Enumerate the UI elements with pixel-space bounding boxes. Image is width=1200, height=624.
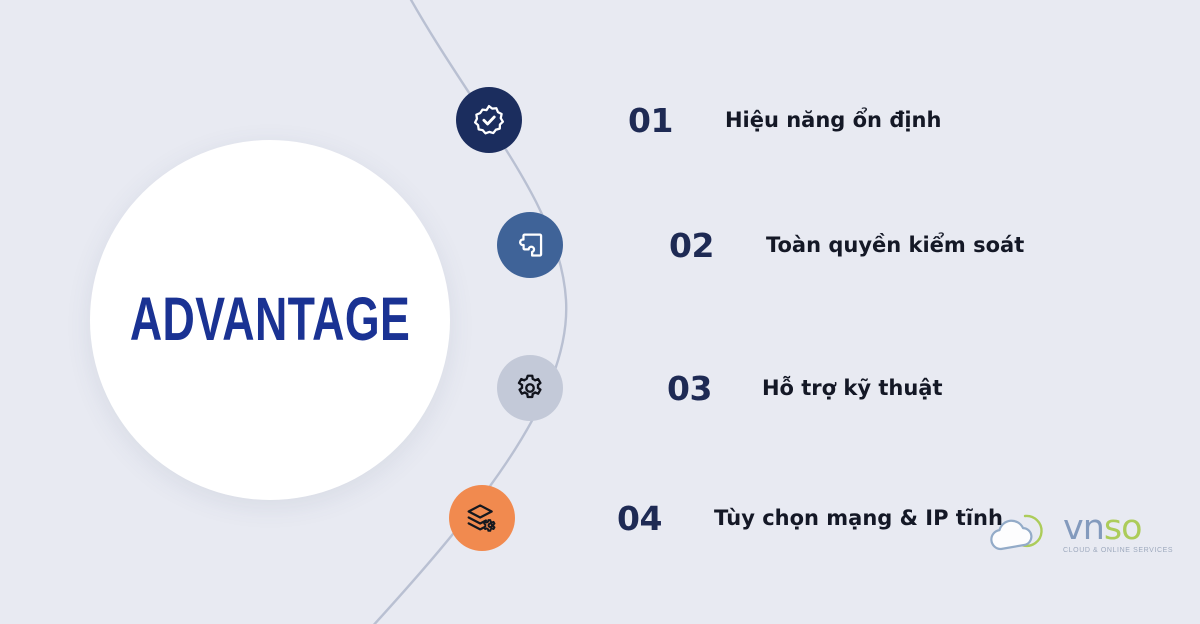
advantage-icon-circle-4[interactable] <box>449 485 515 551</box>
gear-icon <box>514 372 546 404</box>
advantage-label-2: Toàn quyền kiểm soát <box>766 233 1024 257</box>
vnso-logo: vnso CLOUD & ONLINE SERVICES <box>985 500 1175 566</box>
advantage-item-1[interactable]: 01 Hiệu năng ổn định <box>456 87 941 153</box>
advantage-icon-circle-3[interactable] <box>497 355 563 421</box>
layers-settings-icon <box>465 501 499 535</box>
advantage-icon-circle-2[interactable] <box>497 212 563 278</box>
advantage-item-4[interactable]: 04 Tùy chọn mạng & IP tĩnh <box>449 485 1003 551</box>
advantage-number-3: 03 <box>667 369 712 408</box>
advantage-item-3[interactable]: 03 Hỗ trợ kỹ thuật <box>497 355 943 421</box>
advantage-label-3: Hỗ trợ kỹ thuật <box>762 376 943 400</box>
advantage-number-1: 01 <box>628 101 673 140</box>
logo-tagline: CLOUD & ONLINE SERVICES <box>1063 547 1173 554</box>
advantage-number-2: 02 <box>669 226 714 265</box>
advantage-item-2[interactable]: 02 Toàn quyền kiểm soát <box>497 212 1024 278</box>
page-title: ADVANTAGE <box>130 285 410 356</box>
title-circle: ADVANTAGE <box>90 140 450 500</box>
verified-badge-icon <box>472 103 506 137</box>
puzzle-piece-icon <box>514 229 546 261</box>
infographic-canvas: ADVANTAGE 01 Hiệu năng ổn định 02 Toàn q… <box>0 0 1200 624</box>
advantage-label-1: Hiệu năng ổn định <box>725 108 942 132</box>
logo-word-part-2: so <box>1104 508 1142 548</box>
advantage-number-4: 04 <box>617 499 662 538</box>
advantage-icon-circle-1[interactable] <box>456 87 522 153</box>
advantage-label-4: Tùy chọn mạng & IP tĩnh <box>714 506 1003 530</box>
logo-text: vnso CLOUD & ONLINE SERVICES <box>1063 512 1173 554</box>
logo-word-part-1: vn <box>1063 508 1104 548</box>
cloud-icon <box>985 505 1059 561</box>
logo-wordmark: vnso <box>1063 512 1173 545</box>
